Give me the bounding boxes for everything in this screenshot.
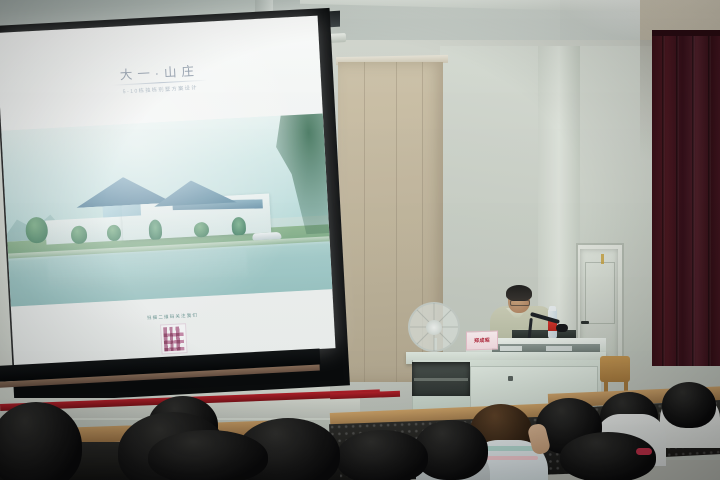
qr-code <box>160 323 188 354</box>
curtain-fold <box>662 36 665 366</box>
glasses-icon <box>510 300 530 306</box>
door-handle[interactable] <box>581 321 589 324</box>
panel-seam <box>396 62 397 382</box>
hair-tie <box>636 448 652 455</box>
control-button[interactable] <box>546 346 572 351</box>
curtain-fold <box>692 36 695 366</box>
student-head <box>662 382 716 428</box>
rendering-palm <box>148 219 162 240</box>
wooden-chair-back[interactable] <box>600 356 630 382</box>
dark-red-curtain <box>652 36 720 366</box>
rendering-tree <box>193 222 209 238</box>
student-head <box>560 432 656 480</box>
architectural-rendering <box>1 113 332 306</box>
name-placard: 郑成昭 <box>466 330 498 350</box>
student-head <box>336 430 428 480</box>
name-placard-text: 郑成昭 <box>474 337 490 345</box>
podium-shelf-board <box>414 378 468 381</box>
presenter-hair <box>506 285 532 301</box>
microphone-icon[interactable] <box>556 324 568 332</box>
panel-seam <box>364 62 365 382</box>
projected-slide: 大一·山庄 5-10栋独栋别墅方案设计 扫描二维码关注我们 <box>0 16 336 366</box>
lecture-hall-photo: 大一·山庄 5-10栋独栋别墅方案设计 扫描二维码关注我们 <box>0 0 720 480</box>
door-panel <box>585 262 615 324</box>
door-latch-plate <box>601 254 604 264</box>
qr-code-pattern <box>163 326 184 351</box>
control-button[interactable] <box>500 346 522 351</box>
curtain-fold <box>708 36 711 366</box>
podium-knob[interactable] <box>508 376 513 381</box>
water-bottle-cap <box>549 306 556 311</box>
fan-hub <box>426 320 442 335</box>
foreground-head <box>148 430 268 480</box>
curtain-fold <box>676 36 679 366</box>
